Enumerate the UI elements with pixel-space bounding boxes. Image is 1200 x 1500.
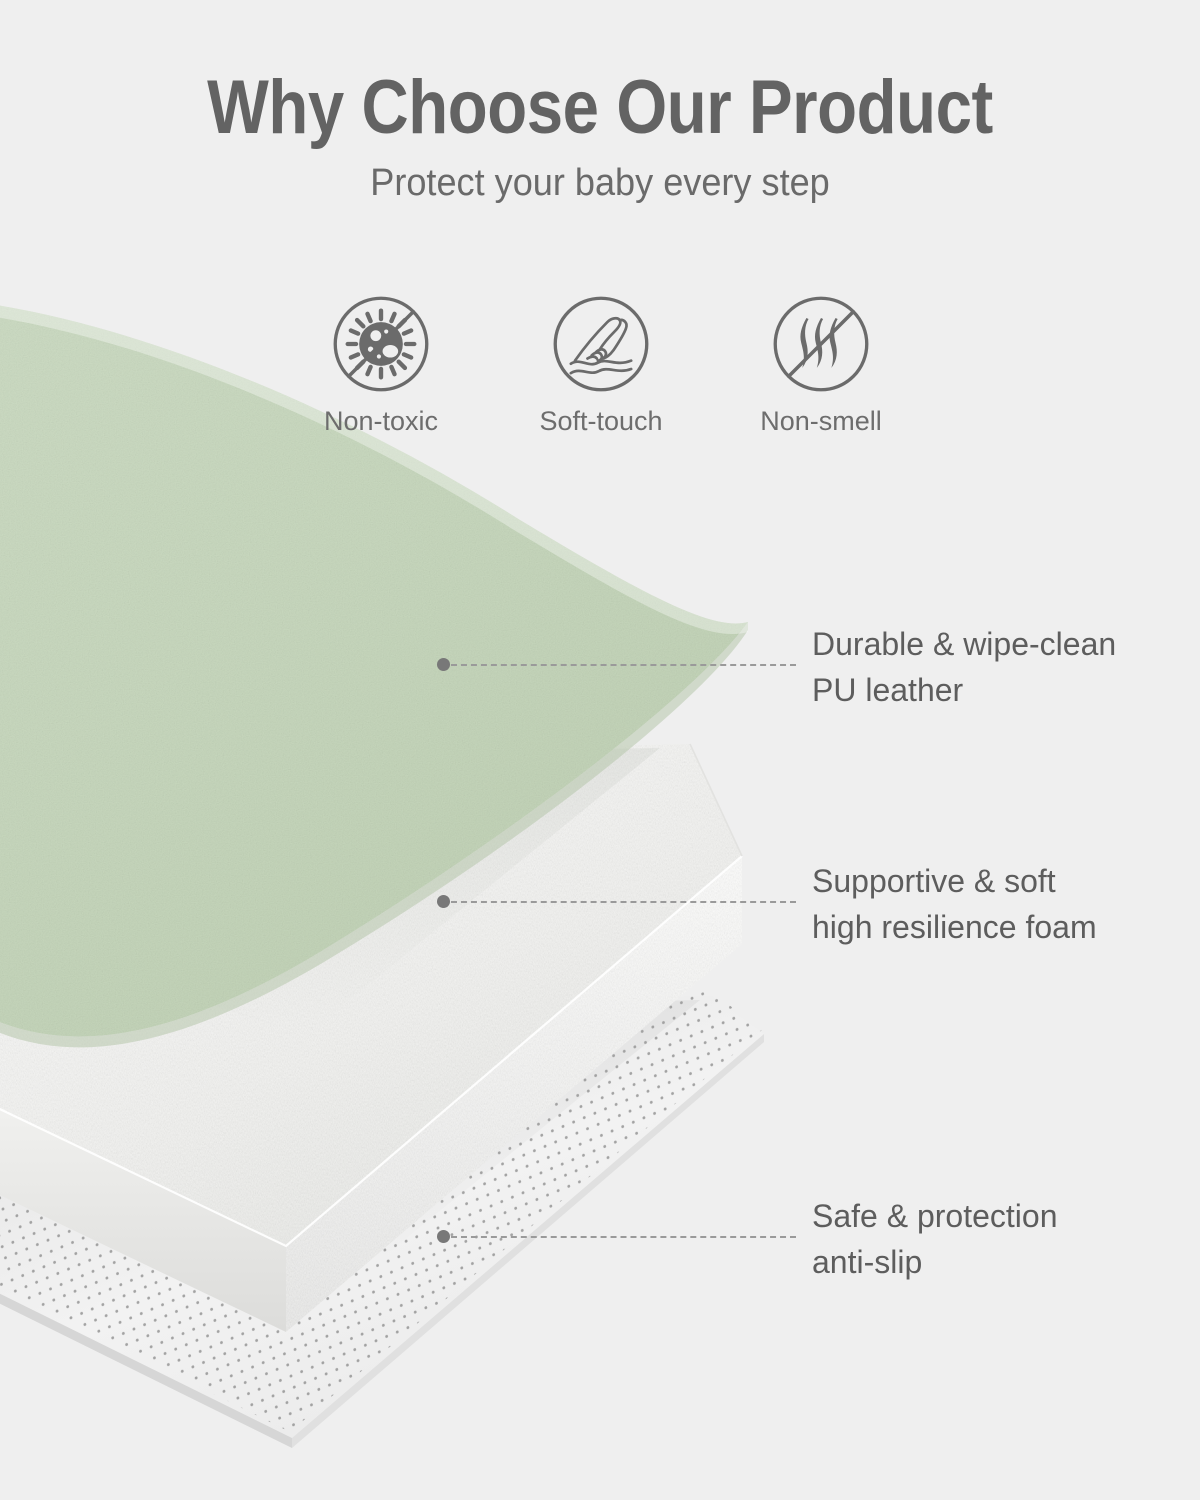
- callout-line-1: Supportive & soft: [812, 863, 1056, 899]
- callout-line-2: PU leather: [812, 667, 1116, 713]
- callout-line-1: Durable & wipe-clean: [812, 626, 1116, 662]
- feature-label-non-toxic: Non-toxic: [306, 405, 456, 437]
- callout-text: Supportive & soft high resilience foam: [812, 858, 1097, 950]
- callout-dot: [437, 658, 450, 671]
- feature-non-smell: Non-smell: [746, 292, 896, 437]
- header: Why Choose Our Product Protect your baby…: [0, 0, 1200, 206]
- callout-leader-line: [451, 664, 796, 666]
- no-germ-icon: [329, 292, 433, 396]
- feature-label-non-smell: Non-smell: [746, 405, 896, 437]
- callout-line-1: Safe & protection: [812, 1198, 1057, 1234]
- callout-dot: [437, 895, 450, 908]
- feature-non-toxic: Non-toxic: [306, 292, 456, 437]
- callout-dot: [437, 1230, 450, 1243]
- callout-text: Safe & protection anti-slip: [812, 1193, 1057, 1285]
- callout-leader-line: [451, 901, 796, 903]
- page-title: Why Choose Our Product: [84, 0, 1116, 150]
- callout-line-2: high resilience foam: [812, 904, 1097, 950]
- feature-label-soft-touch: Soft-touch: [526, 405, 676, 437]
- no-odor-waves-icon: [769, 292, 873, 396]
- callout-line-2: anti-slip: [812, 1239, 1057, 1285]
- feature-badges: Non-toxic Soft-touch: [306, 292, 896, 437]
- callout-text: Durable & wipe-clean PU leather: [812, 621, 1116, 713]
- callout-leader-line: [451, 1236, 796, 1238]
- page-subtitle: Protect your baby every step: [30, 150, 1170, 206]
- infographic-canvas: Why Choose Our Product Protect your baby…: [0, 0, 1200, 1500]
- feature-soft-touch: Soft-touch: [526, 292, 676, 437]
- hand-touch-surface-icon: [549, 292, 653, 396]
